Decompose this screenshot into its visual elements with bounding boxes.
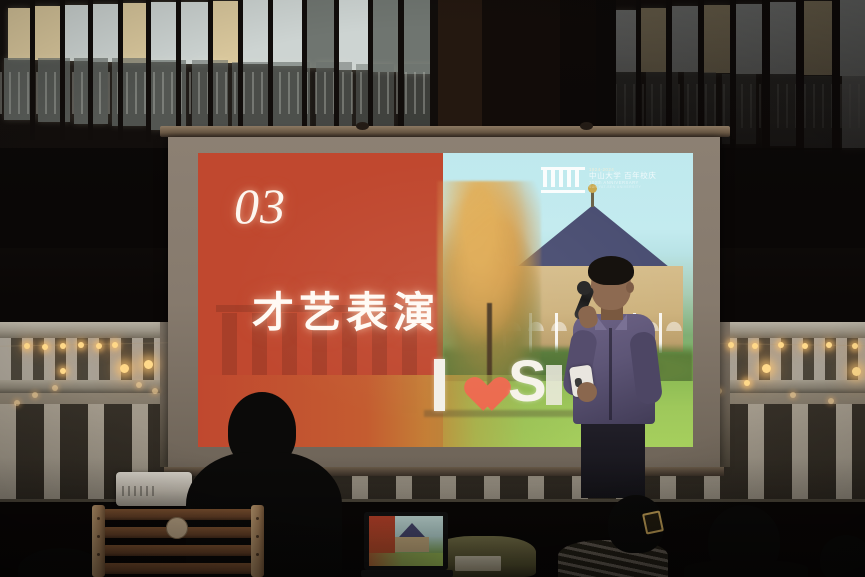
window (272, 0, 302, 66)
university-crest-icon (541, 167, 585, 193)
window (372, 0, 398, 72)
crest-column (551, 169, 555, 187)
window (122, 3, 146, 63)
laptop-slide-lawn (369, 553, 443, 566)
slide-heading: 才艺表演 (252, 279, 440, 340)
photo-scene: 1924-2024 中山大学 百年校庆 100th ANNIVERSARY SU… (0, 0, 865, 577)
window (402, 0, 430, 74)
window-mullion (208, 0, 213, 144)
window (34, 6, 60, 60)
crest-text-block: 1924-2024 中山大学 百年校庆 100th ANNIVERSARY SU… (589, 167, 677, 190)
window-mullion (146, 0, 151, 142)
crest-base (541, 190, 585, 193)
window (242, 0, 268, 64)
wooden-bench (90, 505, 266, 577)
sculpture-letter-i (434, 359, 445, 411)
bench-slat (104, 563, 252, 574)
presenter-hand-holding-phone (577, 382, 597, 402)
presenter-hair (588, 256, 634, 285)
window-mullion (88, 0, 93, 140)
heart-icon (456, 363, 498, 405)
window-mullion (238, 0, 243, 144)
sculpture-base (424, 410, 576, 417)
window-mullion (176, 0, 181, 142)
laptop-slide-dome (399, 523, 425, 537)
bench-screw (97, 535, 100, 538)
window (8, 8, 30, 60)
window-mullion (268, 0, 273, 146)
bench-screw (256, 535, 259, 538)
roller-cap (580, 122, 593, 130)
presenter-legs (581, 416, 645, 498)
presenter-ear (626, 282, 634, 293)
paper-sheet (455, 556, 501, 571)
window (150, 2, 176, 62)
window-mullion (60, 0, 65, 140)
bench-slat (104, 545, 252, 556)
projector-box (116, 472, 192, 506)
crest-column (567, 169, 571, 187)
microphone-capsule (577, 281, 591, 295)
crest-column (575, 169, 579, 187)
roller-cap (356, 122, 369, 130)
window (180, 2, 208, 64)
bench-screw (256, 517, 259, 520)
sculpture-letter-s: S (508, 359, 550, 411)
window-mullion (30, 0, 35, 140)
bench-screw (97, 553, 100, 556)
window (64, 5, 88, 61)
bench-screw (256, 553, 259, 556)
window (212, 1, 238, 63)
viewer-far-right-head (820, 535, 865, 577)
bench-screw (97, 517, 100, 520)
presenter (565, 256, 675, 496)
viewer-right-center-body (684, 560, 808, 577)
presenter-shirt-placket (609, 328, 612, 420)
bench-stile-right (251, 505, 264, 577)
window-mullion (302, 0, 307, 146)
screen-roller-bar (160, 126, 730, 137)
projector-vent (122, 486, 156, 496)
window (338, 0, 368, 70)
bench-stile-left (92, 505, 105, 577)
window (92, 4, 118, 62)
laptop-slide-building (395, 537, 429, 552)
sculpture-letter-partial (546, 365, 562, 405)
window-mullion (118, 0, 123, 140)
slide-section-number: 03 (234, 177, 286, 235)
crest-column (559, 169, 563, 187)
laptop (364, 512, 454, 577)
interior-railing (0, 72, 440, 114)
window (306, 0, 334, 68)
laptop-base (361, 570, 453, 577)
bench-medallion (166, 517, 188, 539)
crest-column (543, 169, 547, 187)
laptop-screen (369, 516, 443, 566)
crest-university-en: SUN YAT-SEN UNIVERSITY (589, 186, 677, 190)
